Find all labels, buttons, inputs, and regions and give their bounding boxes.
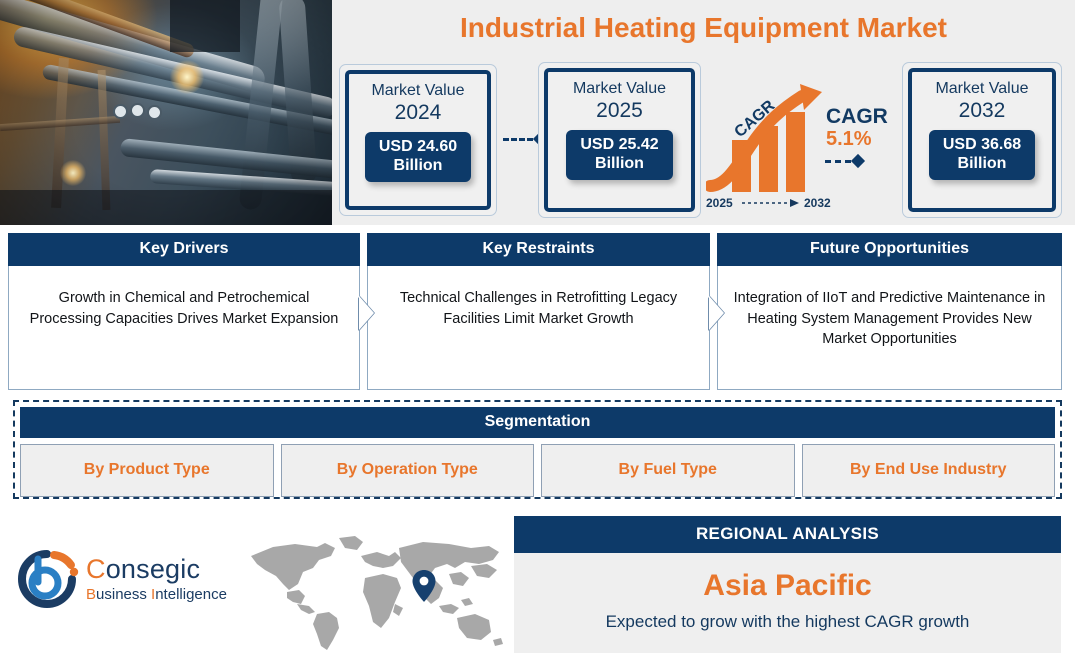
amount-unit: Billion	[595, 155, 644, 172]
card-inner: Market Value 2024 USD 24.60 Billion	[345, 70, 491, 210]
market-value-amount: USD 24.60 Billion	[365, 132, 471, 182]
cagr-value: 5.1%	[826, 129, 872, 150]
chevron-right-icon	[709, 296, 724, 330]
infographic-page: Industrial Heating Equipment Market Mark…	[0, 0, 1075, 660]
segmentation-item-fuel-type[interactable]: By Fuel Type	[541, 444, 795, 497]
tagline-b: B	[86, 586, 96, 603]
market-value-card-2032: Market Value 2032 USD 36.68 Billion	[902, 62, 1062, 218]
world-map	[243, 534, 508, 654]
segmentation-item-product-type[interactable]: By Product Type	[20, 444, 274, 497]
brand-text: Consegic Business Intelligence	[86, 556, 227, 602]
tagline-usiness: usiness	[96, 586, 151, 603]
amount-unit: Billion	[958, 155, 1007, 172]
panel-heading: Key Restraints	[367, 233, 710, 266]
brand-name-rest: onsegic	[106, 554, 200, 584]
amount-unit: Billion	[394, 157, 443, 174]
segmentation-heading: Segmentation	[20, 407, 1055, 438]
panel-text: Integration of IIoT and Predictive Maint…	[717, 266, 1062, 390]
card-inner: Market Value 2032 USD 36.68 Billion	[908, 68, 1056, 212]
growth-bar-chart-icon: CAGR	[706, 82, 846, 202]
segmentation-list: By Product Type By Operation Type By Fue…	[20, 444, 1055, 497]
market-value-amount: USD 25.42 Billion	[566, 130, 672, 180]
panel-text: Growth in Chemical and Petrochemical Pro…	[8, 266, 360, 390]
world-map-icon	[243, 534, 508, 654]
regional-name: Asia Pacific	[514, 569, 1061, 603]
cagr-label: CAGR	[826, 106, 888, 128]
segmentation-item-end-use-industry[interactable]: By End Use Industry	[802, 444, 1056, 497]
regional-note: Expected to grow with the highest CAGR g…	[514, 612, 1061, 632]
hero-photo	[0, 0, 332, 225]
panel-future-opportunities: Future Opportunities Integration of IIoT…	[717, 233, 1062, 390]
regional-analysis-section: REGIONAL ANALYSIS Asia Pacific Expected …	[514, 516, 1061, 652]
chevron-right-icon	[359, 296, 374, 330]
panel-text: Technical Challenges in Retrofitting Leg…	[367, 266, 710, 390]
brand-name-initial: C	[86, 554, 106, 584]
market-value-amount: USD 36.68 Billion	[929, 130, 1035, 180]
cagr-graphic: CAGR CAGR 5.1% 2025 2032	[706, 78, 896, 213]
panel-heading: Future Opportunities	[717, 233, 1062, 266]
market-value-year: 2024	[395, 100, 442, 125]
segmentation-section: Segmentation By Product Type By Operatio…	[13, 400, 1062, 499]
market-value-year: 2032	[959, 98, 1006, 123]
card-inner: Market Value 2025 USD 25.42 Billion	[544, 68, 695, 212]
photo-vignette	[0, 0, 332, 225]
amount-value: USD 36.68	[943, 136, 1021, 153]
brand-tagline: Business Intelligence	[86, 587, 227, 602]
dashed-line	[503, 138, 533, 141]
cagr-end-year: 2032	[804, 196, 831, 210]
market-value-card-2025: Market Value 2025 USD 25.42 Billion	[538, 62, 701, 218]
market-value-year: 2025	[596, 98, 643, 123]
segmentation-item-operation-type[interactable]: By Operation Type	[281, 444, 535, 497]
amount-value: USD 24.60	[379, 138, 457, 155]
market-value-label: Market Value	[935, 79, 1028, 99]
cagr-start-year: 2025	[706, 196, 733, 210]
panel-heading: Key Drivers	[8, 233, 360, 266]
panel-key-restraints: Key Restraints Technical Challenges in R…	[367, 233, 710, 390]
market-value-card-2024: Market Value 2024 USD 24.60 Billion	[339, 64, 497, 216]
tagline-rest: ntelligence	[155, 586, 227, 603]
diamond-icon	[851, 154, 865, 168]
market-value-label: Market Value	[371, 81, 464, 101]
dashed-line	[825, 160, 851, 163]
regional-body: Asia Pacific Expected to grow with the h…	[514, 553, 1061, 653]
brand-name: Consegic	[86, 556, 227, 583]
arrow-right-icon	[742, 198, 802, 208]
page-title: Industrial Heating Equipment Market	[332, 12, 1075, 44]
consegic-b-mark-icon	[14, 548, 80, 610]
amount-value: USD 25.42	[580, 136, 658, 153]
regional-heading: REGIONAL ANALYSIS	[514, 516, 1061, 553]
market-value-label: Market Value	[573, 79, 666, 99]
connector-cagr-2032	[825, 156, 863, 166]
panel-key-drivers: Key Drivers Growth in Chemical and Petro…	[8, 233, 360, 390]
brand-logo[interactable]: Consegic Business Intelligence	[14, 548, 227, 610]
